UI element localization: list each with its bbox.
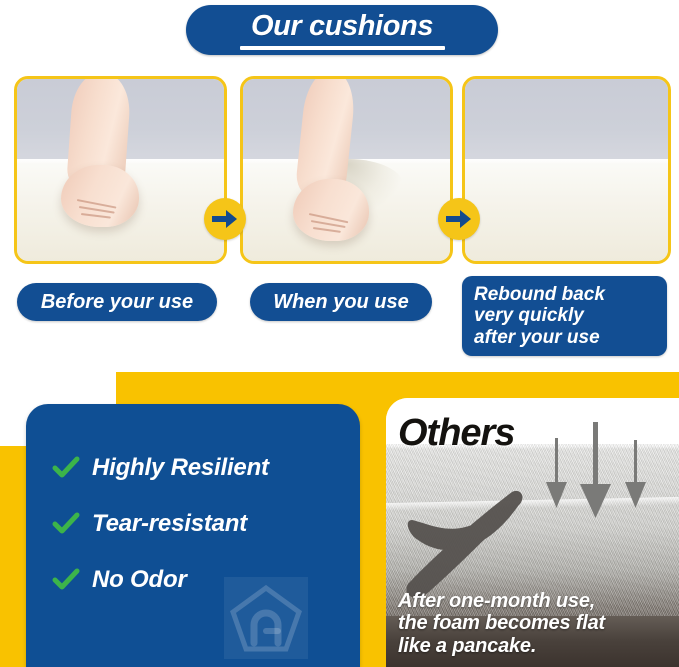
- caption-rebound-line3: after your use: [474, 327, 600, 349]
- others-caption-line3: like a pancake.: [398, 635, 670, 657]
- scene-background: [465, 79, 668, 163]
- demo-photo-after: [462, 76, 671, 264]
- page-title-banner: Our cushions: [186, 5, 498, 55]
- others-title: Others: [398, 412, 514, 455]
- feature-label: No Odor: [92, 566, 187, 594]
- title-underline: [240, 46, 445, 50]
- check-icon: [52, 566, 80, 594]
- foam-scene-during: [243, 79, 450, 261]
- x-mark-icon: [394, 484, 544, 604]
- caption-rebound-line2: very quickly: [474, 305, 584, 327]
- list-item: Highly Resilient: [52, 440, 269, 496]
- demo-photo-during: [240, 76, 453, 264]
- page-title: Our cushions: [251, 12, 433, 41]
- features-panel: Highly Resilient Tear-resistant No Odor: [26, 404, 360, 667]
- caption-rebound: Rebound back very quickly after your use: [462, 276, 667, 356]
- feature-label: Tear-resistant: [92, 510, 247, 538]
- demo-photo-before: [14, 76, 227, 264]
- infographic-page: Our cushions: [0, 0, 679, 667]
- others-caption-line1: After one-month use,: [398, 590, 670, 612]
- others-caption: After one-month use, the foam becomes fl…: [398, 590, 670, 657]
- arrow-down-icon: [536, 416, 656, 531]
- check-icon: [52, 454, 80, 482]
- check-icon: [52, 510, 80, 538]
- foam-surface: [465, 159, 668, 261]
- pentagon-house-logo-icon: [224, 577, 308, 659]
- demo-photo-strip: [0, 64, 679, 270]
- caption-before-your-use: Before your use: [17, 283, 217, 321]
- foam-scene-before: [17, 79, 224, 261]
- others-caption-line2: the foam becomes flat: [398, 612, 670, 634]
- feature-label: Highly Resilient: [92, 454, 269, 482]
- list-item: Tear-resistant: [52, 496, 269, 552]
- foam-scene-after: [465, 79, 668, 261]
- fist-shape: [61, 165, 139, 227]
- arrow-right-icon: [204, 198, 246, 240]
- caption-rebound-line1: Rebound back: [474, 284, 605, 306]
- caption-when-you-use: When you use: [250, 283, 432, 321]
- others-panel: Others After o: [386, 398, 679, 667]
- arrow-right-icon: [438, 198, 480, 240]
- fist-shape: [293, 179, 369, 241]
